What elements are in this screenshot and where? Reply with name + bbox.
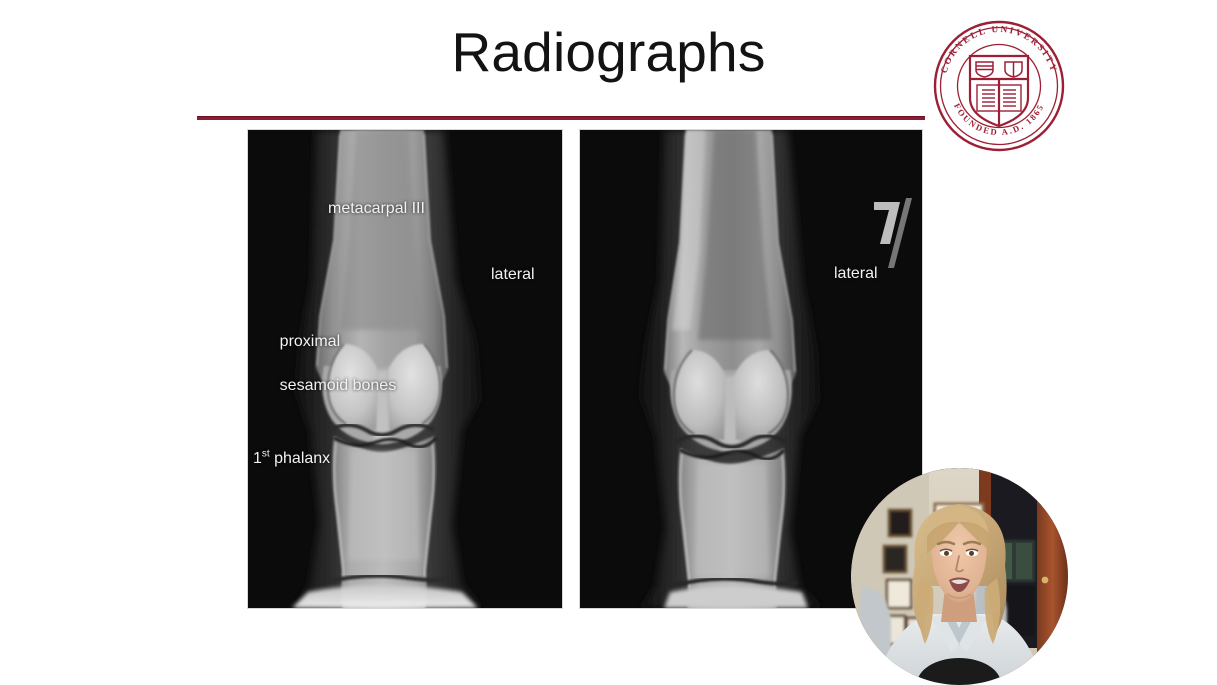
presenter-video-bubble[interactable] [851,468,1068,685]
slide-canvas: Radiographs CORNELL UNIVERSITY FOUNDED A… [0,0,1217,682]
radiograph-left-image [248,130,562,608]
title-divider-rule [197,116,925,120]
radiograph-left: metacarpal III lateral proximal sesamoid… [248,130,562,608]
svg-text:CORNELL UNIVERSITY: CORNELL UNIVERSITY [939,24,1060,74]
cornell-university-seal-logo: CORNELL UNIVERSITY FOUNDED A.D. 1865 [925,12,1073,160]
